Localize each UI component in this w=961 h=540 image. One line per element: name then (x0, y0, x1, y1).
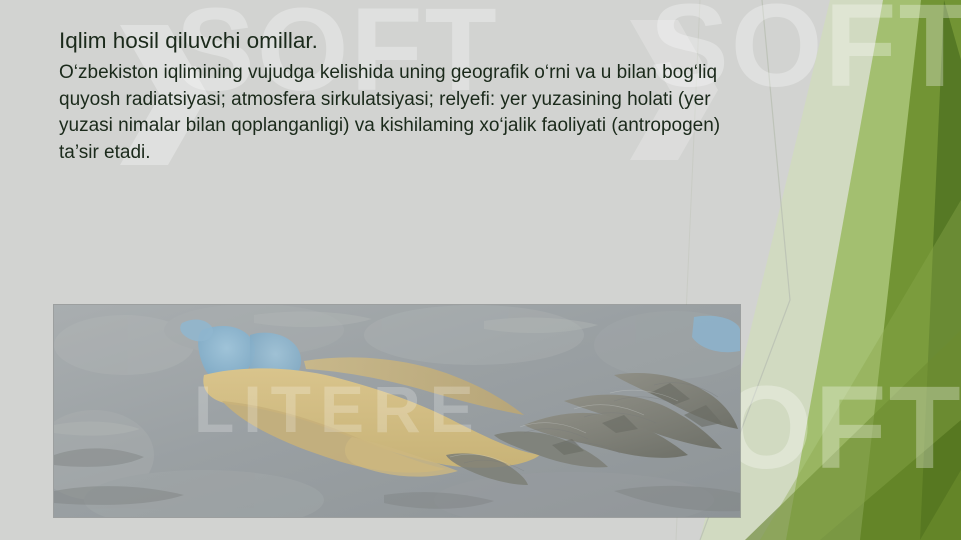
map-watermark-text: LITERE (194, 371, 483, 447)
map-image: LITERE (54, 305, 740, 517)
presentation-slide: SOFT SOFT SOFT SOFT Iqlim hosil qiluvchi… (0, 0, 961, 540)
slide-content: Iqlim hosil qiluvchi omillar. O‘zbekisto… (59, 26, 759, 166)
slide-title: Iqlim hosil qiluvchi omillar. (59, 26, 759, 56)
slide-body-text: O‘zbekiston iqlimining vujudga kelishida… (59, 60, 731, 166)
